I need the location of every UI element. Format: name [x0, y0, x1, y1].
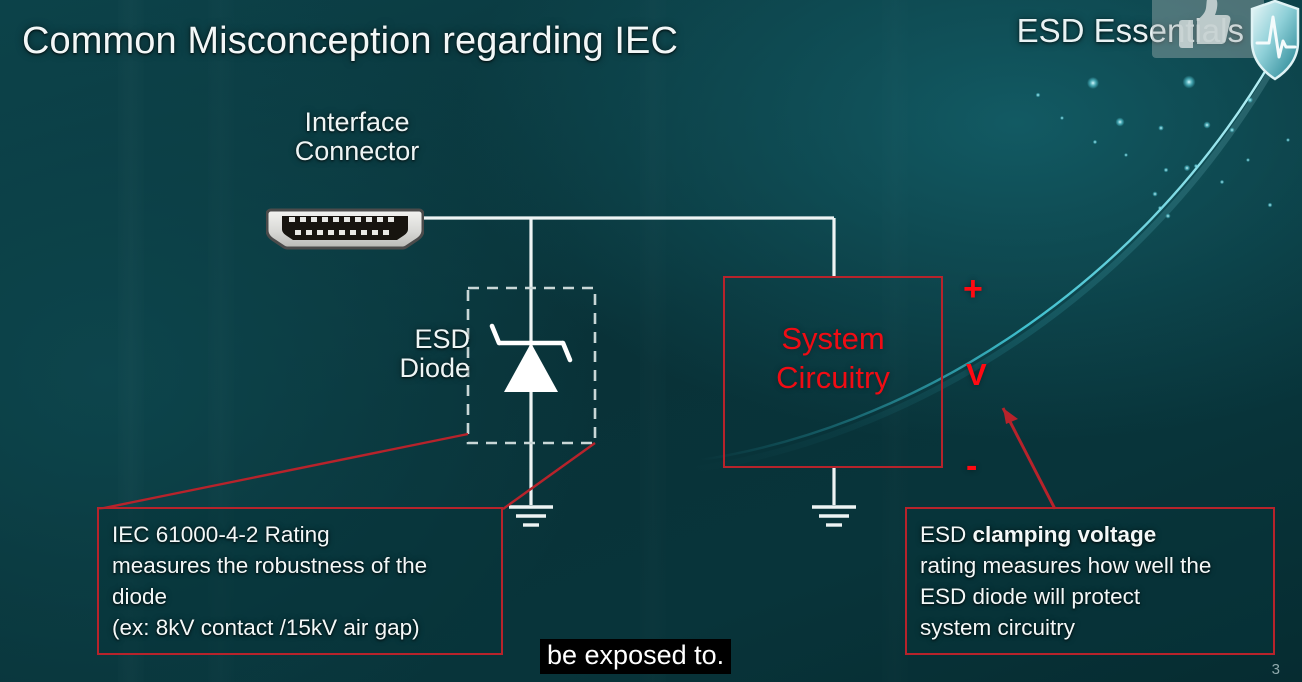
system-label-line2: Circuitry — [723, 359, 943, 398]
callout-left-line1: IEC 61000-4-2 Rating — [112, 519, 488, 550]
callout-right-line1-plain: ESD — [920, 522, 973, 547]
callout-box-iec-rating: IEC 61000-4-2 Rating measures the robust… — [97, 507, 503, 655]
callout-right-line1: ESD clamping voltage — [920, 519, 1260, 550]
callout-left-line4: (ex: 8kV contact /15kV air gap) — [112, 612, 488, 643]
system-label-line1: System — [723, 320, 943, 359]
callout-right-line1-bold: clamping voltage — [973, 522, 1157, 547]
callout-right-line2: rating measures how well the — [920, 550, 1260, 581]
system-circuitry-label: System Circuitry — [723, 320, 943, 398]
esd-label-line1: ESD — [340, 325, 470, 354]
callout-right-line3: ESD diode will protect — [920, 581, 1260, 612]
callout-leader-left — [99, 434, 595, 509]
callout-left-line3: diode — [112, 581, 488, 612]
plus-polarity-label: + — [963, 270, 983, 309]
ground-symbol-icon — [509, 507, 553, 525]
ground-symbol-icon — [812, 507, 856, 525]
callout-box-clamping-voltage: ESD clamping voltage rating measures how… — [905, 507, 1275, 655]
esd-label-line2: Diode — [340, 354, 470, 383]
voltage-symbol-label: V — [966, 357, 987, 393]
slide-canvas: Common Misconception regarding IEC ESD E… — [0, 0, 1302, 682]
callout-left-line2: measures the robustness of the — [112, 550, 488, 581]
esd-diode-label: ESD Diode — [340, 325, 470, 383]
page-number: 3 — [1272, 661, 1280, 678]
callout-right-line4: system circuitry — [920, 612, 1260, 643]
video-caption: be exposed to. — [540, 639, 731, 674]
minus-polarity-label: - — [966, 447, 977, 486]
callout-leader-right-arrow — [1003, 408, 1055, 509]
